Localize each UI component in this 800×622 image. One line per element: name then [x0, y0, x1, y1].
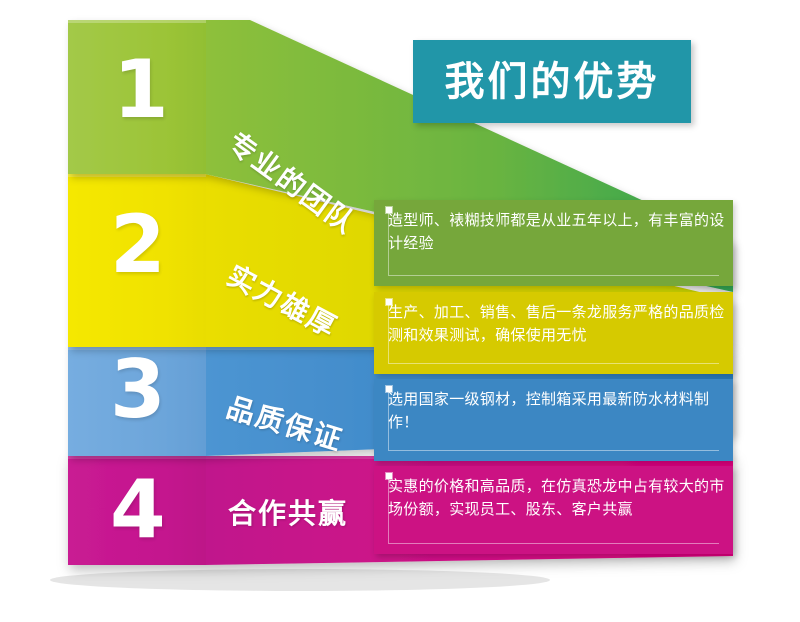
step-2-panel-text: 生产、加工、销售、售后一条龙服务严格的品质检测和效果测试，确保使用无忧	[388, 301, 725, 346]
step-2-sheen	[68, 174, 206, 177]
step-4-panel-text: 实惠的价格和高品质，在仿真恐龙中占有较大的市场份额，实现员工、股东、客户共赢	[388, 475, 725, 520]
infographic-canvas: 1 2 3 4 专业的团队 实力雄厚 品质保证 合作共赢 我们的优势 造型师、裱…	[0, 0, 800, 622]
step-3-number: 3	[110, 350, 166, 430]
step-3-panel-text: 选用国家一级钢材，控制箱采用最新防水材料制作！	[388, 388, 725, 433]
step-3-panel: 选用国家一级钢材，控制箱采用最新防水材料制作！	[374, 379, 733, 461]
step-4-number: 4	[110, 470, 166, 550]
headline-badge: 我们的优势	[413, 40, 691, 123]
step-1-sheen	[68, 20, 206, 23]
step-4-band-label: 合作共赢	[228, 492, 348, 532]
step-2-number: 2	[110, 205, 166, 285]
step-1-panel-text: 造型师、裱糊技师都是从业五年以上，有丰富的设计经验	[388, 209, 725, 254]
step-4-panel: 实惠的价格和高品质，在仿真恐龙中占有较大的市场份额，实现员工、股东、客户共赢	[374, 466, 733, 554]
page-title: 我们的优势	[445, 62, 660, 102]
step-1-panel: 造型师、裱糊技师都是从业五年以上，有丰富的设计经验	[374, 200, 733, 286]
step-2-panel: 生产、加工、销售、售后一条龙服务严格的品质检测和效果测试，确保使用无忧	[374, 292, 733, 374]
step-1-number: 1	[113, 50, 169, 130]
stack-ground-shadow	[50, 569, 550, 591]
